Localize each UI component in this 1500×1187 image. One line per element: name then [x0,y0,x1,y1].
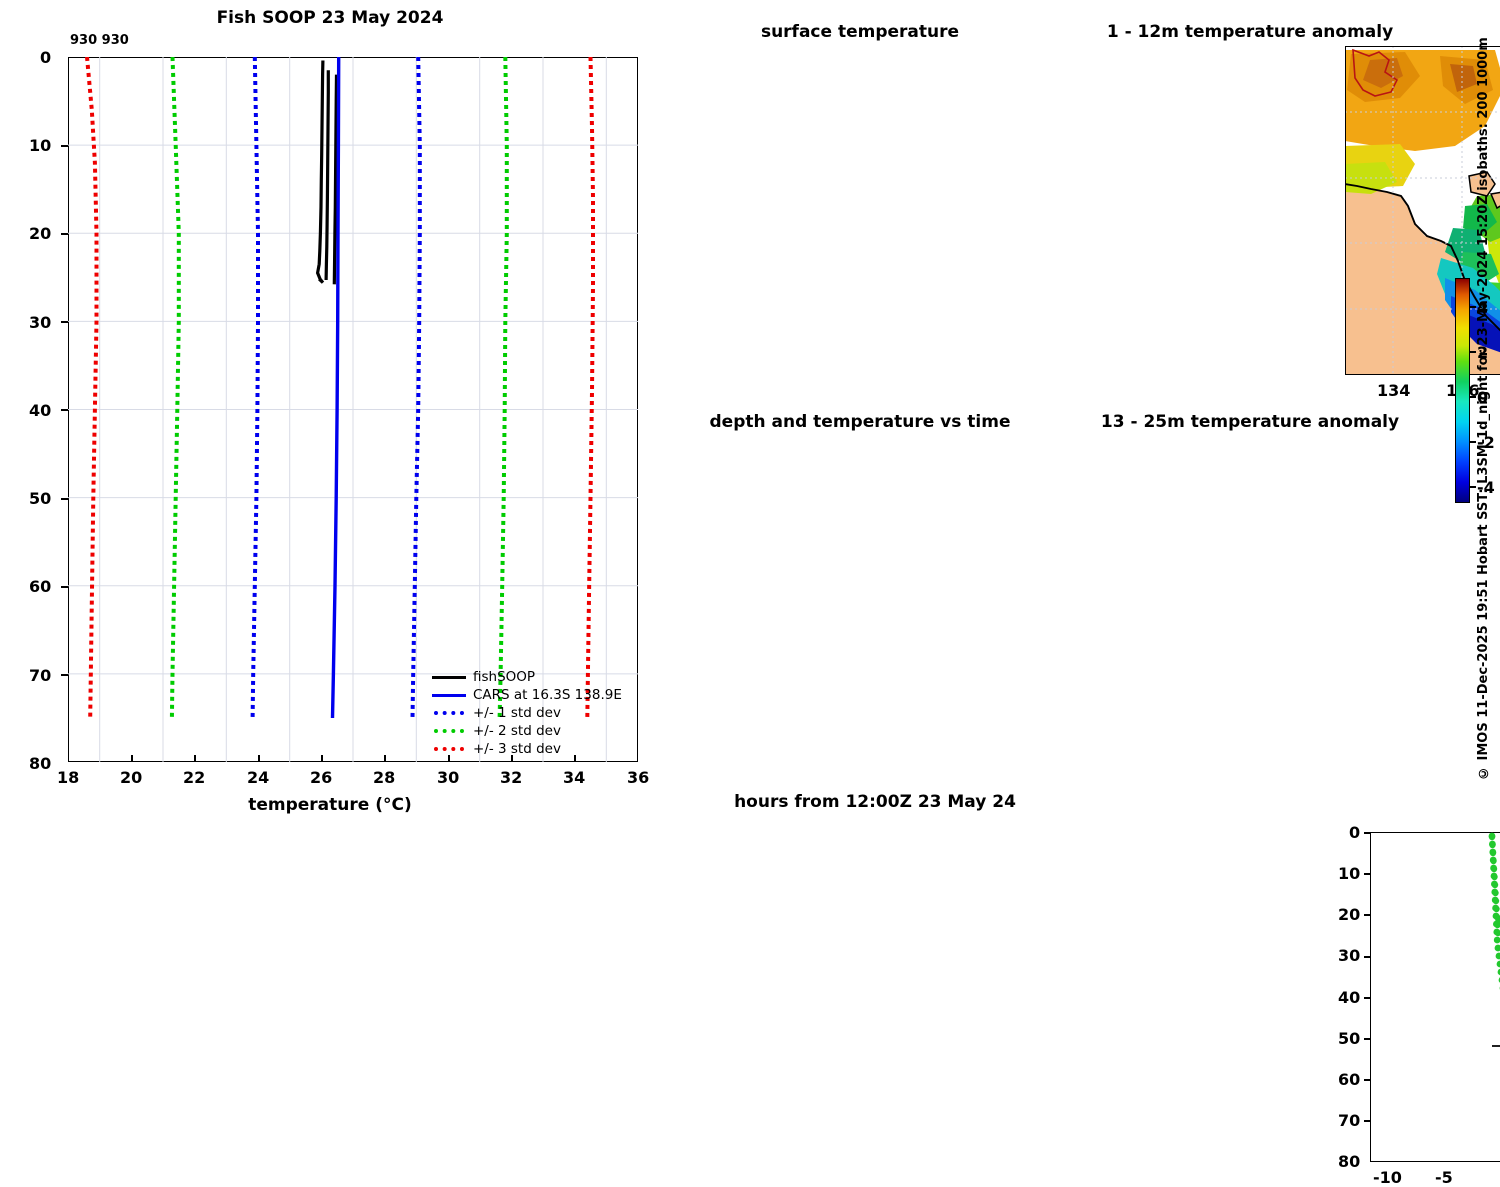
series-minus1std [253,57,258,718]
profile-xtick: 20 [120,768,142,787]
time-xtick: -10 [1373,1168,1402,1187]
legend-label: fishSOOP [473,669,535,685]
profile-xtick: 34 [563,768,585,787]
series-fishsoop-cast1 [318,61,323,283]
time-ytick: 40 [1338,988,1360,1007]
profile-panel: Fish SOOP 23 May 2024 930 930 [0,0,660,820]
series-minus3std [87,57,97,718]
profile-ytick: 0 [40,48,51,67]
profile-xtick: 22 [183,768,205,787]
legend-swatch-cars [432,694,466,697]
time-ytick: 30 [1338,946,1360,965]
time-panel-title: depth and temperature vs time [670,412,1050,432]
profile-legend: fishSOOP CARS at 16.3S 138.9E +/- 1 std … [432,668,642,758]
legend-label: +/- 2 std dev [473,723,561,739]
profile-corner-note: 930 930 [70,33,129,48]
profile-panel-title: Fish SOOP 23 May 2024 [0,8,660,28]
profile-yaxis-label: depth (m) [0,385,82,480]
legend-label: CARS at 16.3S 138.9E [473,687,622,703]
profile-gridlines [68,57,638,762]
legend-item-cars: CARS at 16.3S 138.9E [432,686,642,704]
seafloor-line [1492,1046,1500,1048]
profile-xtick: 30 [437,768,459,787]
profile-xtick: 18 [57,768,79,787]
profile-xaxis-label: temperature (°C) [0,795,660,815]
series-fishsoop-cast3 [334,75,336,285]
time-ytick: 80 [1338,1152,1360,1171]
time-xaxis-label: hours from 12:00Z 23 May 24 [710,792,1040,812]
profile-ytick: 50 [29,489,51,508]
time-xtick: -5 [1435,1168,1453,1187]
sst-panel: surface temperature [660,0,1060,400]
anomaly-bottom-panel: 13 - 25m temperature anomaly [1050,400,1450,820]
legend-item-3std: +/- 3 std dev [432,740,642,758]
anomaly-colorbar-bar [1455,278,1470,503]
legend-swatch-fishsoop [432,676,466,679]
legend-item-1std: +/- 1 std dev [432,704,642,722]
legend-item-fishsoop: fishSOOP [432,668,642,686]
time-ytick: 20 [1338,905,1360,924]
profile-ytick: 80 [29,754,51,773]
time-ytick: 0 [1349,823,1360,842]
legend-swatch-3std [434,747,464,751]
profile-xtick: 36 [627,768,649,787]
series-plus3std [587,57,593,718]
time-ytick: 10 [1338,864,1360,883]
profile-ytick: 70 [29,666,51,685]
sst-panel-title: surface temperature [680,22,1040,42]
profile-xtick: 26 [310,768,332,787]
profile-ytick: 10 [29,136,51,155]
legend-swatch-2std [434,729,464,733]
time-ytick: 70 [1338,1111,1360,1130]
legend-item-2std: +/- 2 std dev [432,722,642,740]
legend-label: +/- 3 std dev [473,741,561,757]
time-ytick: 50 [1338,1029,1360,1048]
profile-xtick: 28 [373,768,395,787]
series-minus2std [172,57,179,718]
series-fishsoop-cast2 [326,70,328,280]
legend-label: +/- 1 std dev [473,705,561,721]
series-plus2std [500,57,507,718]
time-panel: depth and temperature vs time [660,400,1060,820]
profile-ytick: 60 [29,577,51,596]
profile-xtick: 32 [500,768,522,787]
legend-swatch-1std [434,711,464,715]
time-plot-svg[interactable] [1370,832,1500,1162]
anomaly-bottom-title: 13 - 25m temperature anomaly [1060,412,1440,432]
profile-plot-svg [68,57,638,762]
profile-ytick: 30 [29,313,51,332]
profile-xtick: 24 [247,768,269,787]
profile-ytick: 20 [29,224,51,243]
time-ytick: 60 [1338,1070,1360,1089]
anomaly-top-title: 1 - 12m temperature anomaly [1060,22,1440,42]
imos-credit: © IMOS 11-Dec-2025 19:51 Hobart SST: L3S… [1476,40,1491,780]
anomaly-top-panel: 1 - 12m temperature anomaly [1050,0,1450,400]
